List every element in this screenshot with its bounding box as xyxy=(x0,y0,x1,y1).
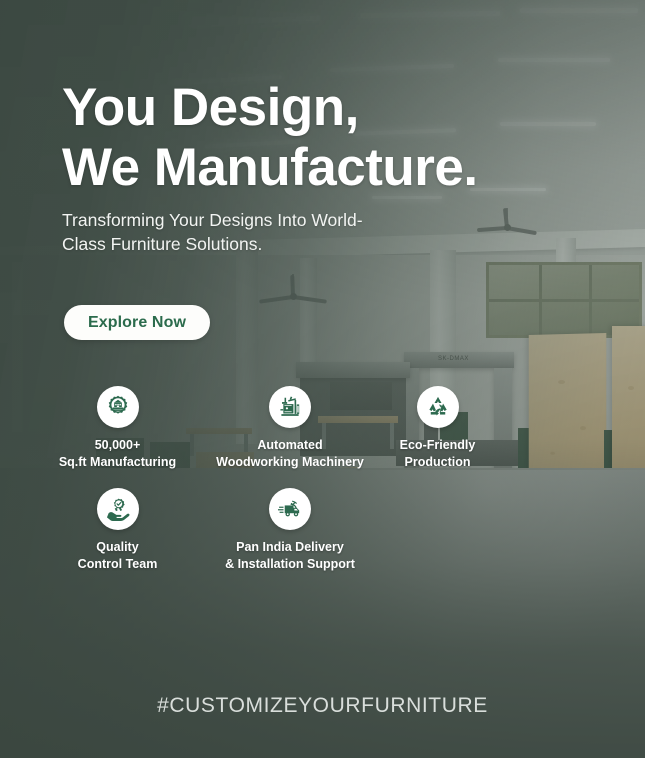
feature-row: Quality Control Team xyxy=(30,488,500,572)
feature-label: 50,000+ Sq.ft Manufacturing xyxy=(59,437,176,470)
delivery-truck-icon xyxy=(269,488,311,530)
woodworking-machine-icon xyxy=(269,386,311,428)
hero-banner: SK-DMAX xyxy=(0,0,645,758)
feature-item-quality[interactable]: Quality Control Team xyxy=(30,488,205,572)
feature-list: 50,000+ Sq.ft Manufacturing xyxy=(30,386,500,572)
feature-label: Automated Woodworking Machinery xyxy=(216,437,364,470)
recycle-leaf-icon xyxy=(417,386,459,428)
hero-headline: You Design, We Manufacture. xyxy=(62,78,478,199)
feature-item-manufacturing[interactable]: 50,000+ Sq.ft Manufacturing xyxy=(30,386,205,470)
feature-label: Pan India Delivery & Installation Suppor… xyxy=(225,539,355,572)
factory-gear-icon xyxy=(97,386,139,428)
feature-item-machinery[interactable]: Automated Woodworking Machinery xyxy=(205,386,375,470)
explore-now-button[interactable]: Explore Now xyxy=(64,305,210,340)
hero-subheadline: Transforming Your Designs Into World- Cl… xyxy=(62,208,363,256)
quality-badge-hand-icon xyxy=(97,488,139,530)
feature-row: 50,000+ Sq.ft Manufacturing xyxy=(30,386,500,470)
hashtag-text: #CUSTOMIZEYOURFURNITURE xyxy=(0,694,645,718)
feature-label: Eco-Friendly Production xyxy=(400,437,476,470)
feature-item-delivery[interactable]: Pan India Delivery & Installation Suppor… xyxy=(205,488,375,572)
feature-label: Quality Control Team xyxy=(78,539,158,572)
feature-item-eco[interactable]: Eco-Friendly Production xyxy=(375,386,500,470)
hero-content: You Design, We Manufacture. Transforming… xyxy=(0,0,645,758)
